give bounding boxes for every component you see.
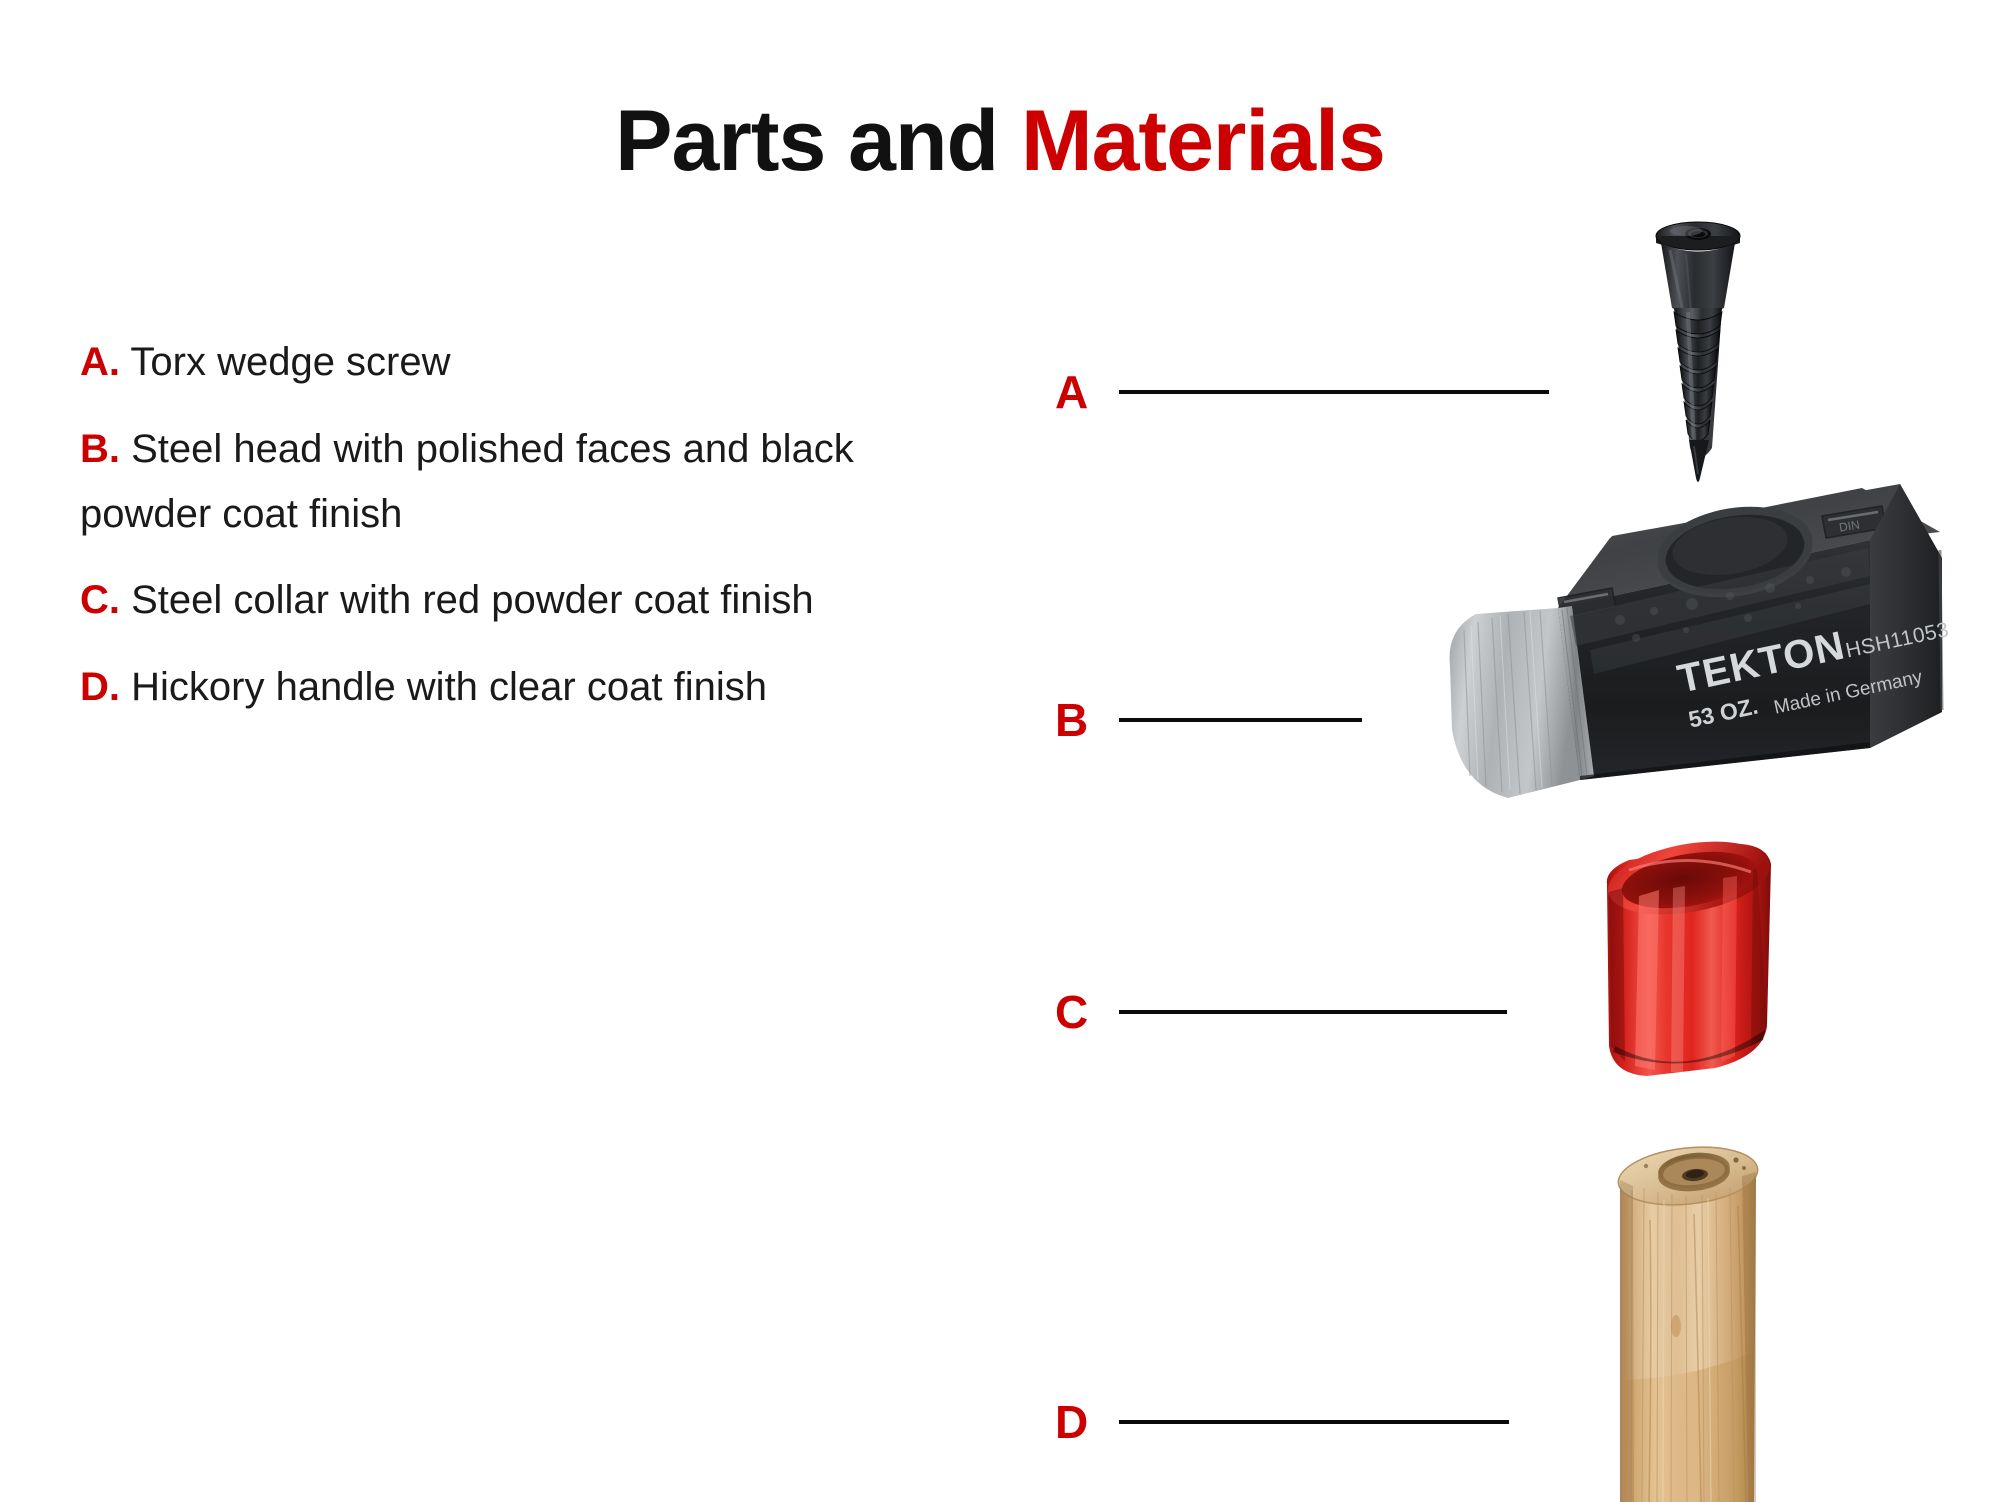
list-item-label: Steel head with polished faces and black…: [80, 427, 854, 536]
steel-hammer-head-image: DIN: [1430, 480, 1975, 820]
hickory-handle-image: [1602, 1130, 1778, 1502]
list-item-letter: B.: [80, 427, 120, 471]
list-item: C. Steel collar with red powder coat fin…: [80, 568, 910, 633]
list-item-letter: D.: [80, 665, 120, 709]
exploded-product-diagram: DIN: [1430, 190, 1990, 1500]
list-item-letter: A.: [80, 340, 120, 384]
list-item-letter: C.: [80, 578, 120, 622]
slide-canvas: Parts and Materials A. Torx wedge screw …: [0, 0, 2000, 1500]
callout-letter: C: [1055, 989, 1101, 1035]
torx-wedge-screw-image: [1646, 216, 1750, 486]
callout-b: B: [1055, 690, 1362, 750]
steel-collar-image: [1595, 840, 1785, 1090]
parts-list: A. Torx wedge screw B. Steel head with p…: [80, 330, 910, 742]
list-item: B. Steel head with polished faces and bl…: [80, 417, 910, 547]
list-item-label: Hickory handle with clear coat finish: [120, 665, 767, 709]
callout-letter: D: [1055, 1399, 1101, 1445]
leader-line: [1119, 718, 1362, 722]
page-title: Parts and Materials: [0, 96, 2000, 186]
list-item-label: Torx wedge screw: [120, 340, 451, 384]
list-item-label: Steel collar with red powder coat finish: [120, 578, 814, 622]
list-item: A. Torx wedge screw: [80, 330, 910, 395]
list-item: D. Hickory handle with clear coat finish: [80, 655, 910, 720]
callout-letter: A: [1055, 369, 1101, 415]
page-title-primary: Parts and: [615, 93, 1021, 189]
page-title-accent: Materials: [1021, 93, 1385, 189]
callout-letter: B: [1055, 697, 1101, 743]
